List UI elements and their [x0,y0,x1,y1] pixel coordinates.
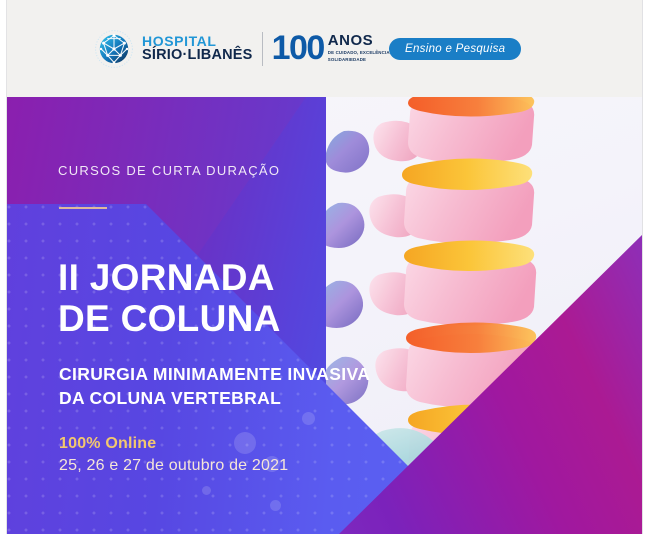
centenary-logo: 100 ANOS DE CUIDADO, EXCELÊNCIA E SOLIDA… [272,32,398,66]
centenary-tagline: DE CUIDADO, EXCELÊNCIA E SOLIDARIEDADE [328,50,398,63]
event-dates: 25, 26 e 27 de outubro de 2021 [59,457,288,475]
page-bottom-edge [0,534,650,540]
centenary-word: ANOS [328,33,398,48]
online-badge-label: 100% Online [59,435,156,453]
banner-text-block: CURSOS DE CURTA DURAÇÃO II JORNADA DE CO… [58,97,438,534]
page-left-edge [0,0,7,540]
banner-title: II JORNADA DE COLUNA [58,257,281,340]
site-header: HOSPITAL SÍRIO·LIBANÊS 100 ANOS DE CUIDA… [6,0,643,97]
hospital-wordmark: HOSPITAL SÍRIO·LIBANÊS [142,34,253,63]
centenary-number: 100 [272,31,324,65]
header-content: HOSPITAL SÍRIO·LIBANÊS 100 ANOS DE CUIDA… [6,0,643,97]
logo-sirio-libanes-text: SÍRIO·LIBANÊS [142,48,253,63]
ensino-e-pesquisa-button[interactable]: Ensino e Pesquisa [389,38,521,60]
course-promo-banner: CURSOS DE CURTA DURAÇÃO II JORNADA DE CO… [6,97,643,534]
banner-subtitle: CIRURGIA MINIMAMENTE INVASIVA DA COLUNA … [59,363,370,410]
banner-kicker: CURSOS DE CURTA DURAÇÃO [58,162,280,181]
logo-divider [262,32,263,66]
kicker-underline [59,207,107,209]
promo-banner-page: HOSPITAL SÍRIO·LIBANÊS 100 ANOS DE CUIDA… [0,0,650,540]
hospital-sphere-emblem-icon [94,29,134,69]
centenary-text-group: ANOS DE CUIDADO, EXCELÊNCIA E SOLIDARIED… [328,33,398,63]
page-right-edge [642,0,650,540]
